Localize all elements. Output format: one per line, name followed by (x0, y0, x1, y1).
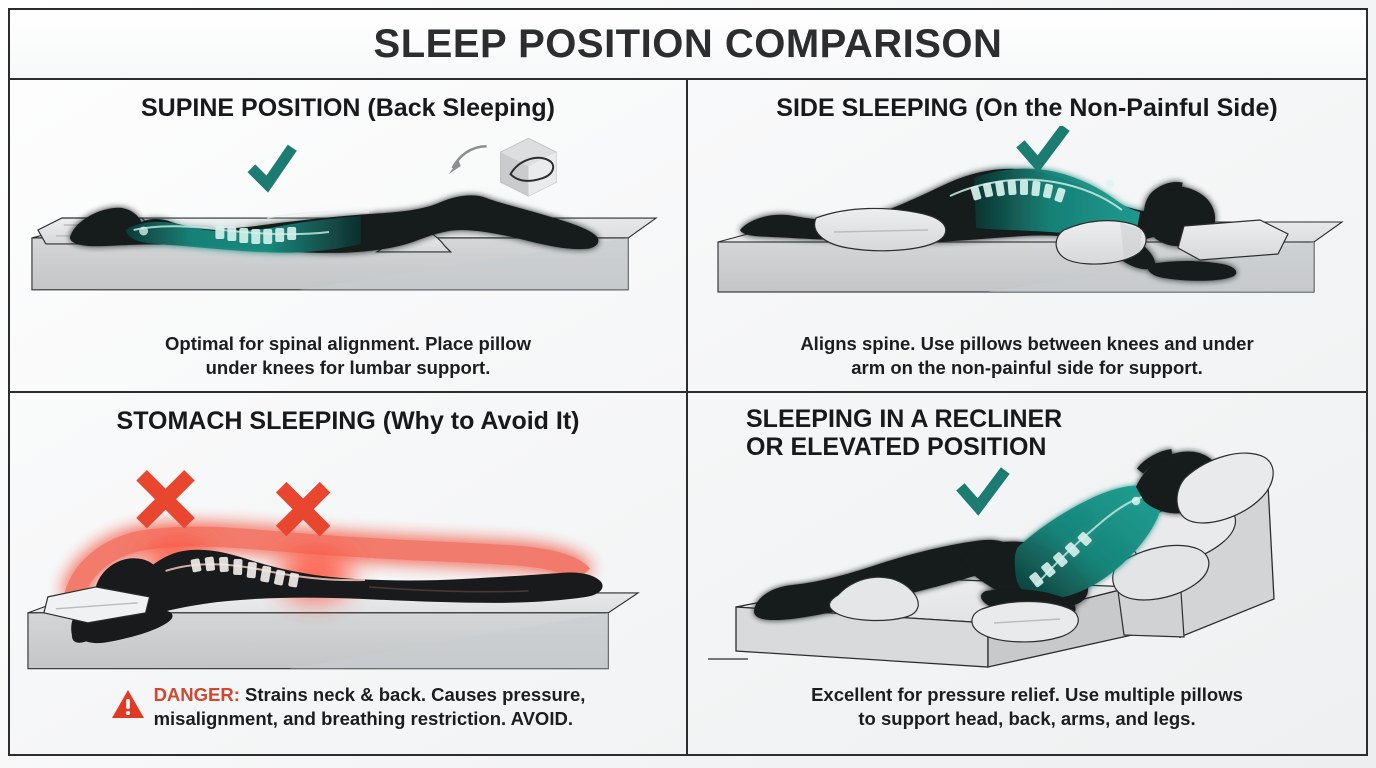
caption-line-1: Strains neck & back. Causes pressure, (240, 684, 586, 705)
recliner-illustration (688, 421, 1366, 677)
supine-illustration (10, 126, 686, 326)
caption-line-2: to support head, back, arms, and legs. (728, 707, 1326, 731)
pillow-callout-icon (501, 138, 557, 196)
panel-supine-title: SUPINE POSITION (Back Sleeping) (10, 94, 686, 122)
head-pillow (1178, 220, 1288, 260)
panel-supine: SUPINE POSITION (Back Sleeping) (10, 80, 688, 393)
caption-line-2: misalignment, and breathing restriction.… (154, 708, 573, 729)
panel-supine-caption: Optimal for spinal alignment. Place pill… (10, 332, 686, 380)
panel-stomach-caption: DANGER: Strains neck & back. Causes pres… (10, 683, 686, 731)
lap-pillow (972, 602, 1078, 642)
panel-side-sleeping: SIDE SLEEPING (On the Non-Painful Side) (688, 80, 1366, 393)
danger-label: DANGER: (154, 684, 240, 705)
check-icon (255, 152, 289, 184)
x-mark-icon (142, 475, 190, 523)
page-title: SLEEP POSITION COMPARISON (374, 22, 1003, 67)
caption-line-2: arm on the non-painful side for support. (728, 356, 1326, 380)
panel-recliner-caption: Excellent for pressure relief. Use multi… (688, 683, 1366, 731)
infographic-frame: SLEEP POSITION COMPARISON SUPINE POSITIO… (8, 8, 1368, 756)
caption-line-1: Excellent for pressure relief. Use multi… (728, 683, 1326, 707)
warning-triangle-icon (111, 688, 145, 726)
x-mark-icon (281, 487, 325, 531)
panel-stomach-sleeping: STOMACH SLEEPING (Why to Avoid It) (10, 393, 688, 756)
knee-pillow (815, 208, 946, 250)
panel-grid: SUPINE POSITION (Back Sleeping) (10, 80, 1366, 756)
check-icon (1024, 132, 1062, 164)
caption-line-1: Optimal for spinal alignment. Place pill… (50, 332, 646, 356)
curved-arrow-icon (449, 146, 487, 174)
stomach-illustration (10, 447, 686, 677)
panel-side-caption: Aligns spine. Use pillows between knees … (688, 332, 1366, 380)
panel-side-title: SIDE SLEEPING (On the Non-Painful Side) (688, 94, 1366, 122)
stomach-caption-text: DANGER: Strains neck & back. Causes pres… (154, 683, 586, 731)
panel-recliner: SLEEPING IN A RECLINER OR ELEVATED POSIT… (688, 393, 1366, 756)
arm-pillow (1056, 221, 1146, 264)
infographic-root: SLEEP POSITION COMPARISON SUPINE POSITIO… (0, 0, 1376, 768)
caption-line-1: Aligns spine. Use pillows between knees … (728, 332, 1326, 356)
side-sleeping-illustration (688, 126, 1366, 326)
check-icon (964, 475, 1002, 507)
infographic-title-bar: SLEEP POSITION COMPARISON (10, 10, 1366, 80)
caption-line-2: under knees for lumbar support. (50, 356, 646, 380)
panel-stomach-title: STOMACH SLEEPING (Why to Avoid It) (10, 407, 686, 435)
